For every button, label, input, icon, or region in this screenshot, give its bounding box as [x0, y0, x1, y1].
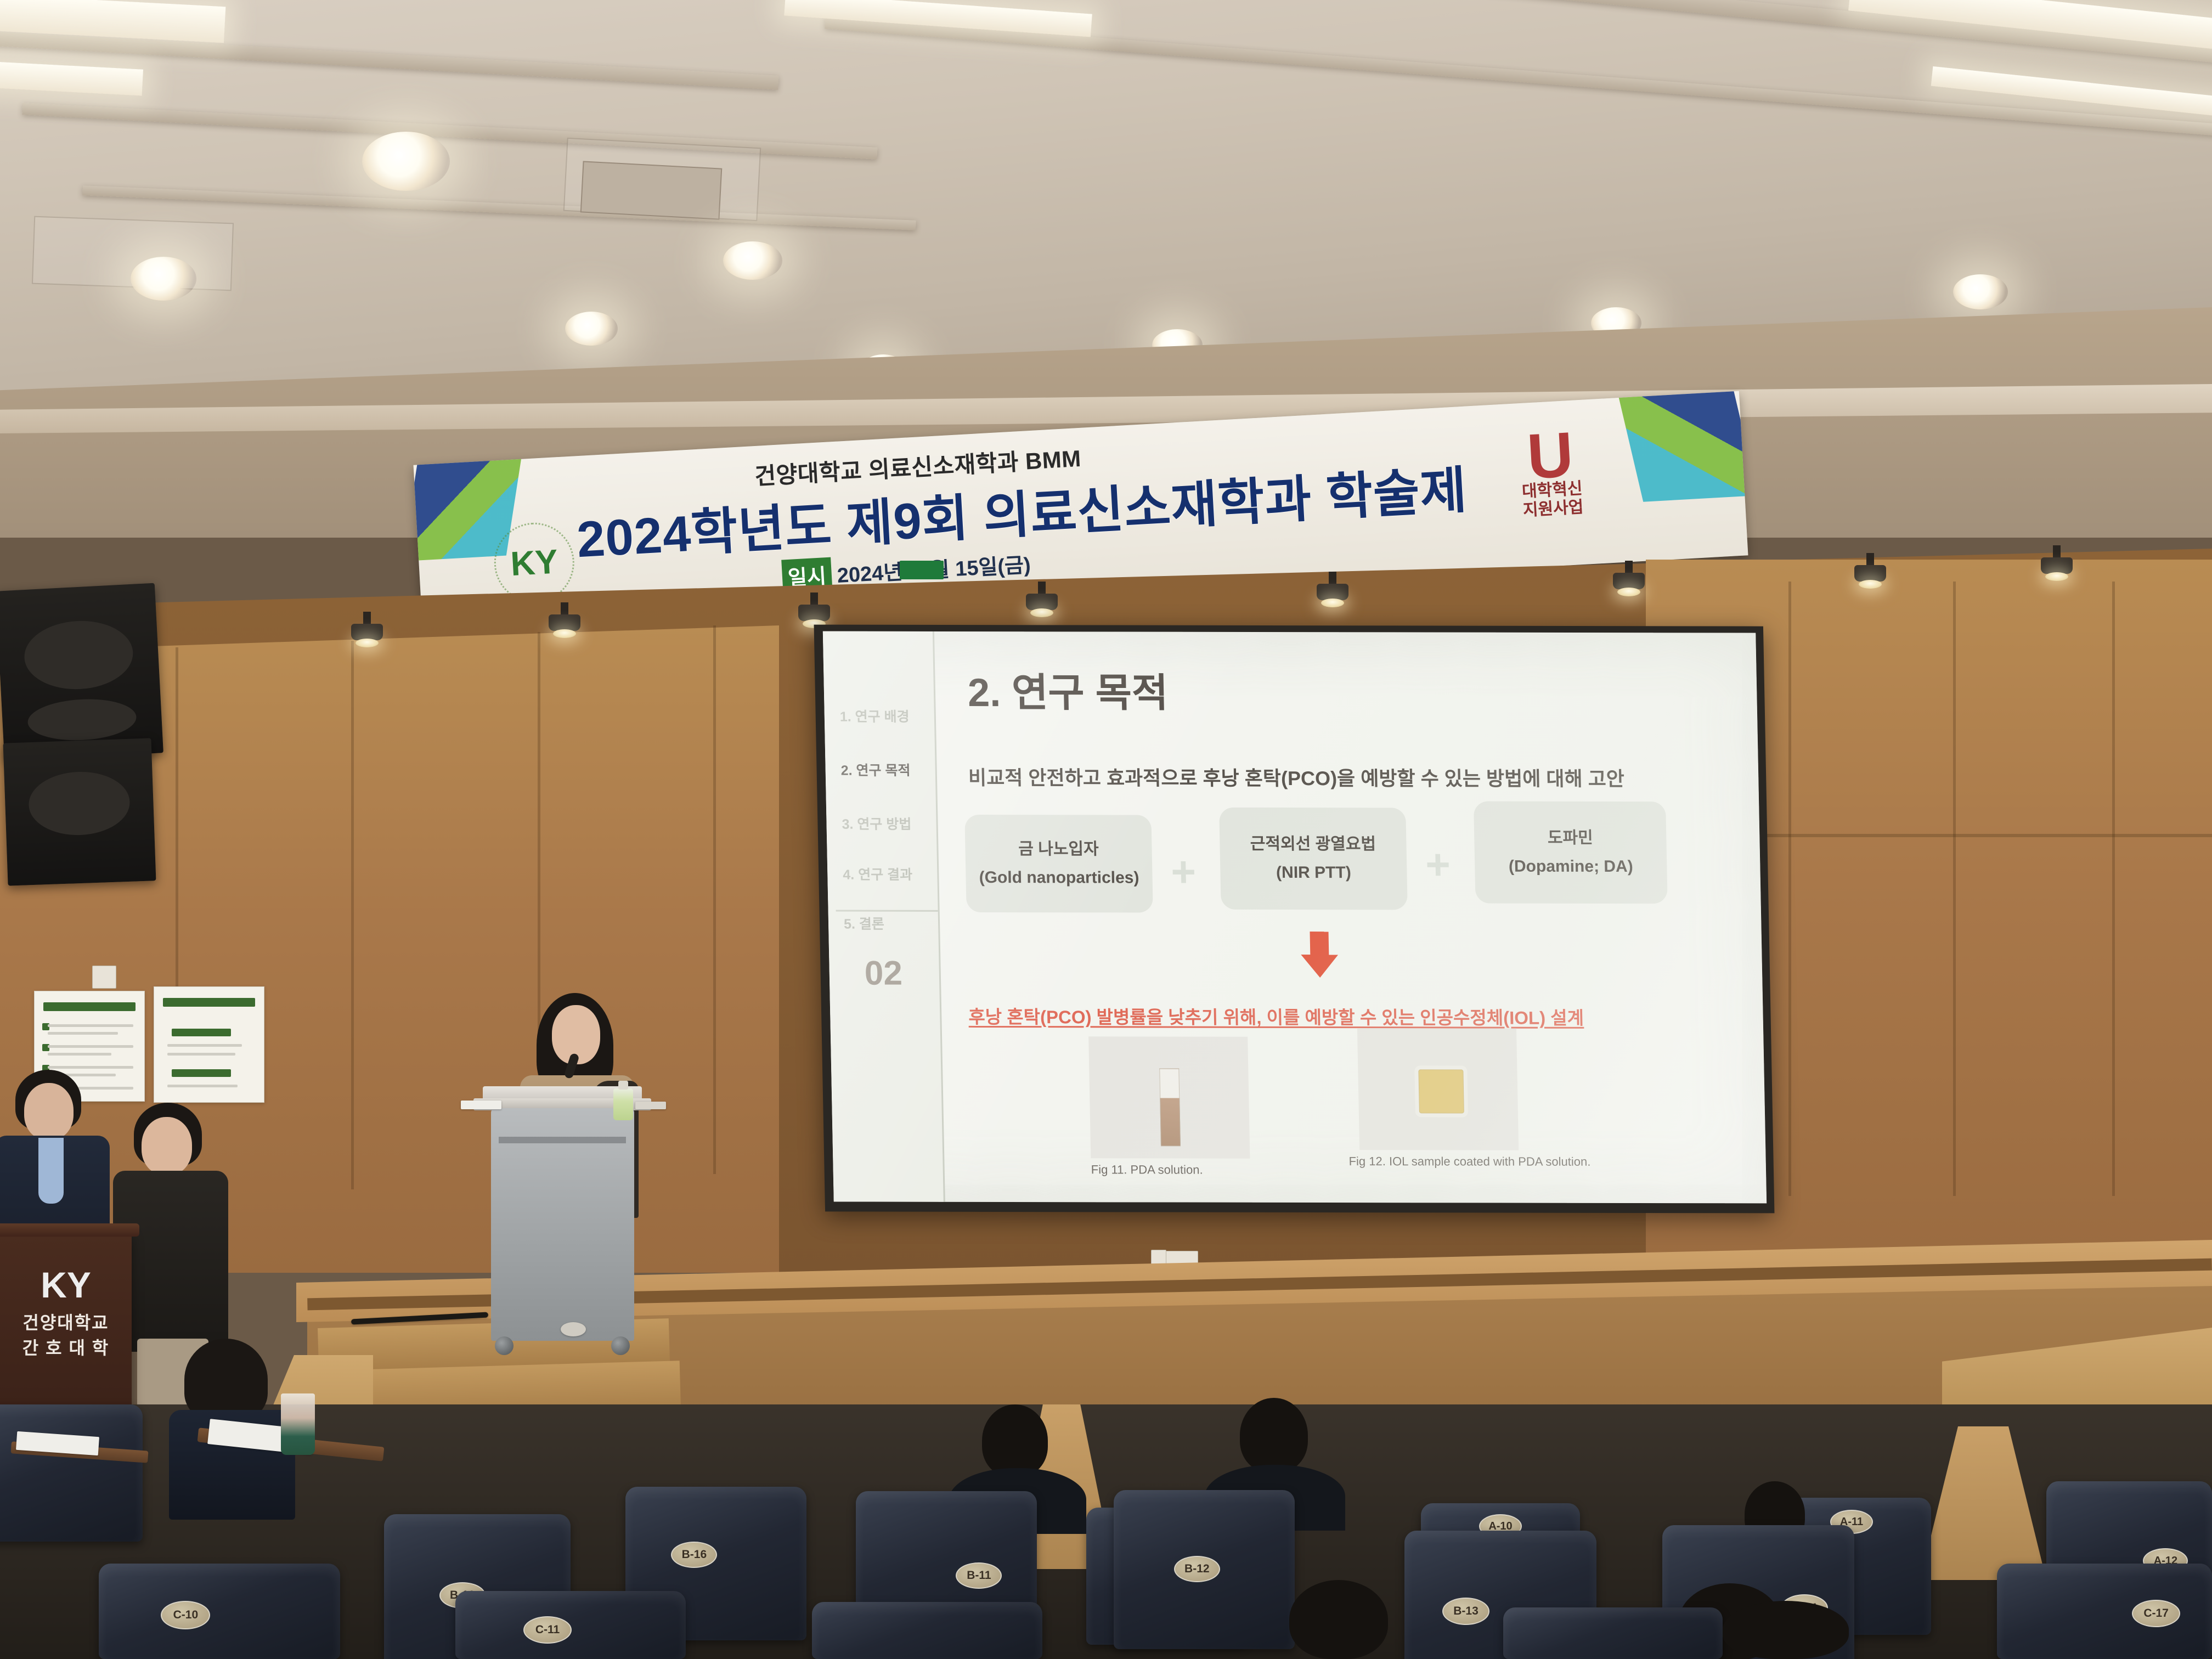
notice-left-line-1 — [48, 1024, 133, 1027]
slide-sidebar-rule — [836, 910, 938, 912]
seat-c11-back — [455, 1591, 686, 1659]
slide-title: 2. 연구 목적 — [967, 660, 1169, 718]
nursing-college-podium: KY 건양대학교 간 호 대 학 — [0, 1232, 132, 1430]
exit-sign — [900, 561, 944, 579]
wall-seam-4 — [713, 625, 716, 1174]
stage-spotlight-2 — [549, 602, 580, 634]
lectern-caster-left[interactable] — [495, 1336, 513, 1355]
iced-drink-cup[interactable] — [281, 1393, 315, 1455]
audience-head-4 — [1289, 1580, 1388, 1659]
figure-2-image — [1357, 1028, 1519, 1150]
component-pill-2-en: (NIR PTT) — [1276, 859, 1352, 888]
seat-front-left-back — [0, 1404, 143, 1542]
component-pill-nir-ptt: 근적외선 광열요법 (NIR PTT) — [1219, 808, 1408, 910]
podium-ky-mark: KY — [0, 1264, 132, 1306]
slide-conclusion-text: 후낭 혼탁(PCO) 발병률을 낮추기 위해, 이를 예방할 수 있는 인공수정… — [968, 1002, 1584, 1030]
plus-operator-2: + — [1425, 839, 1451, 889]
down-arrow-icon — [1301, 932, 1339, 982]
slide-nav-item-1[interactable]: 1. 연구 배경 — [839, 706, 909, 726]
seat-c10-label: C-10 — [161, 1601, 210, 1629]
seat-c11[interactable]: C-11 — [455, 1591, 686, 1659]
slide-nav-item-4[interactable]: 4. 연구 결과 — [843, 864, 912, 884]
notice-right-subheader-1 — [172, 1029, 231, 1036]
notice-left-line-2 — [48, 1032, 118, 1035]
seat-front-left-partial[interactable] — [0, 1404, 143, 1542]
component-pill-3-ko: 도파민 — [1547, 823, 1593, 853]
notice-right-header — [163, 998, 255, 1007]
wall-seam-2 — [351, 641, 354, 1189]
sanitizer-pump-cap — [618, 1081, 629, 1090]
ceiling-vent — [580, 161, 723, 219]
iol-sample-illustration — [1419, 1070, 1465, 1114]
wall-socket[interactable] — [92, 966, 116, 989]
seat-c12[interactable] — [812, 1602, 1042, 1659]
slide-glare-overlay — [823, 631, 1767, 1204]
slide-nav-item-5[interactable]: 5. 결론 — [844, 913, 885, 933]
floor-power-puck — [561, 1322, 586, 1336]
slide-nav-item-2[interactable]: 2. 연구 목적 — [840, 760, 910, 780]
component-pill-2-ko: 근적외선 광열요법 — [1250, 830, 1376, 859]
pa-speaker-upper — [0, 583, 163, 761]
notice-left-line-3 — [48, 1045, 133, 1048]
pda-cuvette-illustration — [1159, 1068, 1181, 1146]
wall-seam-5 — [1788, 582, 1791, 1196]
stage-spotlight-7 — [1854, 553, 1886, 585]
lectern-papers[interactable] — [461, 1101, 501, 1109]
component-pill-3-en: (Dopamine; DA) — [1508, 853, 1633, 882]
speaker-driver-upper — [23, 618, 134, 692]
seat-b12-label: B-12 — [1174, 1556, 1220, 1582]
slide-nav-item-3[interactable]: 3. 연구 방법 — [842, 814, 911, 833]
notice-right-line-2 — [167, 1053, 235, 1056]
seat-c10[interactable]: C-10 — [99, 1564, 340, 1659]
plus-operator-1: + — [1170, 847, 1196, 897]
notice-right-line-1 — [167, 1044, 242, 1047]
slide-number: 02 — [864, 954, 902, 993]
seat-c13-back — [1503, 1607, 1723, 1659]
seat-b12[interactable]: B-12 — [1114, 1490, 1295, 1649]
podium-top-lip — [0, 1223, 139, 1237]
component-pill-gold-nanoparticles: 금 나노입자 (Gold nanoparticles) — [964, 815, 1153, 913]
wall-seam-6 — [1953, 582, 1956, 1196]
notice-left-line-5 — [48, 1066, 133, 1069]
stage-spotlight-1 — [351, 612, 383, 644]
seat-c11-label: C-11 — [523, 1616, 572, 1644]
konyang-logo: KY — [494, 522, 575, 603]
ceiling-downlight-3 — [723, 241, 782, 280]
speaker-driver-lower — [27, 696, 137, 743]
figure-1-image — [1088, 1036, 1250, 1158]
notice-left-header — [43, 1002, 136, 1011]
hand-sanitizer-bottle[interactable] — [613, 1088, 633, 1120]
slide-lead-sentence: 비교적 안전하고 효과적으로 후낭 혼탁(PCO)을 예방할 수 있는 방법에 … — [968, 762, 1624, 792]
seat-c17-label: C-17 — [2132, 1600, 2180, 1627]
wall-seam-7 — [2112, 582, 2115, 1196]
standing-person-left-head — [24, 1083, 74, 1140]
notice-board-right — [154, 986, 264, 1103]
university-innovation-logo: U 대학혁신 지원사업 — [1494, 427, 1609, 522]
ceiling-downlight-7 — [1953, 274, 2008, 309]
presentation-slide: 1. 연구 배경 2. 연구 목적 3. 연구 방법 4. 연구 결과 5. 결… — [823, 631, 1767, 1204]
stage-spotlight-8 — [2041, 545, 2073, 577]
audience-head-6 — [1723, 1601, 1849, 1659]
ceiling-downlight-2 — [131, 257, 196, 301]
speaker-driver-lower-2 — [28, 770, 131, 837]
component-pill-1-en: (Gold nanoparticles) — [979, 864, 1139, 893]
ceiling-downlight-1 — [362, 132, 450, 191]
uj-logo-glyph: U — [1494, 427, 1606, 484]
seat-b11-label: B-11 — [956, 1562, 1002, 1589]
standing-person-left-shirt — [38, 1138, 64, 1204]
seat-c12-back — [812, 1602, 1042, 1659]
figure-1-caption: Fig 11. PDA solution. — [1091, 1163, 1203, 1177]
audience-head-1 — [982, 1404, 1048, 1477]
podium-university-name: 건양대학교 — [0, 1309, 132, 1334]
lectern-cable-slot — [499, 1137, 626, 1143]
audience-head-2 — [1240, 1398, 1308, 1472]
notice-left-line-4 — [48, 1053, 111, 1056]
auditorium-scene: KY 건양대학교 의료신소재학과 BMM 2024학년도 제9회 의료신소재학과… — [0, 0, 2212, 1659]
lectern-caster-right[interactable] — [611, 1336, 630, 1355]
notice-right-line-3 — [167, 1085, 238, 1087]
stage-spotlight-4 — [1026, 582, 1058, 613]
stage-spotlight-5 — [1317, 572, 1348, 603]
component-pill-1-ko: 금 나노입자 — [1018, 835, 1099, 864]
pa-speaker-lower — [3, 738, 156, 885]
podium-college-name: 간 호 대 학 — [0, 1334, 132, 1359]
seat-b16-label: B-16 — [671, 1542, 717, 1568]
mobile-lectern — [483, 1086, 642, 1355]
seat-c17[interactable]: C-17 — [1997, 1564, 2212, 1659]
standing-person-right-head — [142, 1117, 192, 1175]
notice-right-subheader-2 — [172, 1069, 231, 1077]
stage-spotlight-3 — [798, 592, 830, 624]
seat-c10-back — [99, 1564, 340, 1659]
banner-swoosh-right — [1617, 391, 1748, 502]
component-pill-dopamine: 도파민 (Dopamine; DA) — [1474, 802, 1668, 904]
ceiling-downlight-4 — [565, 312, 618, 346]
seated-attendee-hair — [184, 1339, 268, 1421]
seat-c13[interactable] — [1503, 1607, 1723, 1659]
figure-2-caption: Fig 12. IOL sample coated with PDA solut… — [1348, 1154, 1590, 1169]
stage-spotlight-6 — [1613, 561, 1645, 592]
seat-b13-label: B-13 — [1442, 1598, 1489, 1625]
lectern-remote[interactable] — [635, 1102, 666, 1109]
